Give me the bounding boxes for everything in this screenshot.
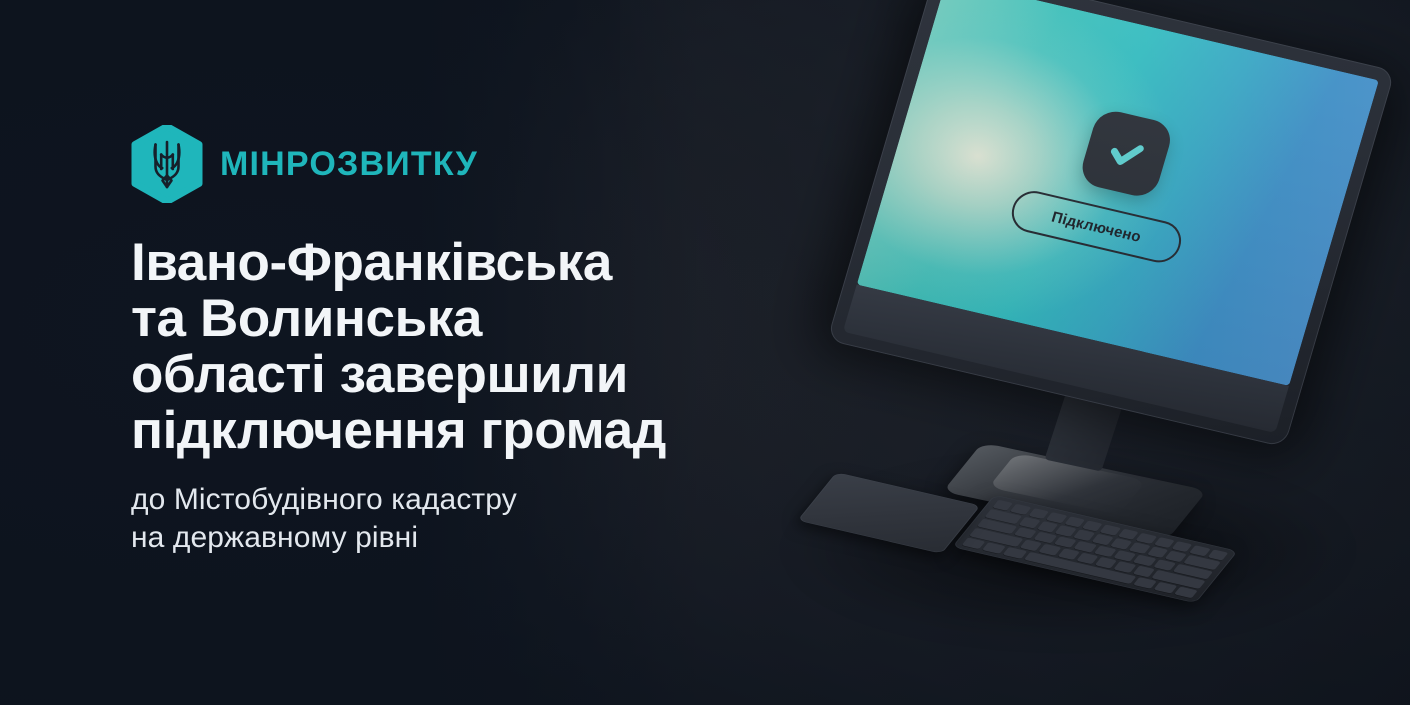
headline-line-1: Івано-Франківська bbox=[131, 235, 731, 291]
headline-line-3: області завершили bbox=[131, 347, 731, 403]
subtitle-line-1: до Містобудівного кадастру bbox=[131, 481, 771, 519]
headline-line-4: підключення громад bbox=[131, 403, 731, 459]
page-title: Івано-Франківська та Волинська області з… bbox=[131, 235, 731, 459]
subtitle-line-2: на державному рівні bbox=[131, 519, 771, 557]
promo-banner: МІНРОЗВИТКУ Івано-Франківська та Волинсь… bbox=[0, 0, 1410, 705]
brand-wordmark: МІНРОЗВИТКУ bbox=[220, 147, 478, 181]
checkmark-icon bbox=[1077, 107, 1175, 200]
brand-lockup: МІНРОЗВИТКУ bbox=[131, 126, 771, 202]
headline-line-2: та Волинська bbox=[131, 291, 731, 347]
status-badge: Підключено bbox=[1007, 187, 1186, 267]
ukraine-trident-hexagon-icon bbox=[131, 125, 203, 203]
page-subtitle: до Містобудівного кадастру на державному… bbox=[131, 481, 771, 558]
text-content-block: МІНРОЗВИТКУ Івано-Франківська та Волинсь… bbox=[131, 126, 771, 557]
device-illustration: Підключено bbox=[760, 0, 1410, 705]
